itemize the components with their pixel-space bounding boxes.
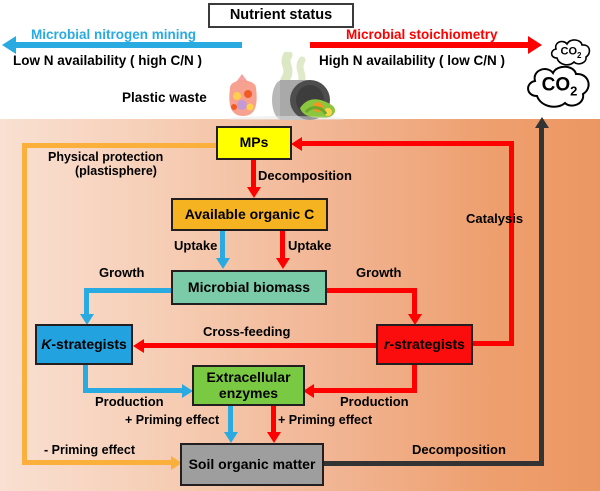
node-k-strategists[interactable]: K-strategists [35, 324, 133, 365]
node-microbial-biomass[interactable]: Microbial biomass [171, 270, 327, 305]
cross-feeding-edge [143, 343, 377, 348]
uptake-left-edge [220, 231, 225, 260]
priming-plus-right-label: + Priming effect [278, 413, 372, 427]
decomposition-bottom-label: Decomposition [412, 443, 506, 458]
catalysis-label: Catalysis [466, 212, 523, 227]
plastic-waste-illustration [222, 52, 350, 120]
mps-to-aoc-edge [251, 159, 256, 189]
priming-minus-label: - Priming effect [44, 443, 135, 457]
physical-protection-line1: Physical protection [48, 150, 163, 164]
priming-left-arrow-head-icon [224, 432, 238, 443]
production-right-edge-h [313, 388, 417, 393]
decomposition-edge-vertical [539, 127, 544, 464]
stoichiometry-arrow-head-icon [528, 36, 542, 54]
physical-protection-line2: (plastisphere) [75, 164, 157, 178]
physical-protection-edge-left [22, 143, 27, 465]
co2-large-text: CO2 [523, 75, 596, 99]
uptake-right-edge [280, 231, 285, 260]
enzymes-line1: Extracellular [206, 369, 290, 385]
catalysis-arrow-head-icon [291, 137, 302, 151]
catalysis-edge-from-r [471, 341, 514, 346]
production-left-label: Production [95, 395, 164, 410]
priming-right-arrow-head-icon [267, 432, 281, 443]
co2-cloud-large: CO2 [523, 62, 596, 112]
decomposition-arrow-head-icon [535, 117, 549, 128]
growth-left-edge-v [84, 288, 89, 316]
co2-small-text: CO2 [548, 45, 594, 59]
stoichiometry-arrow-shaft [310, 42, 529, 48]
production-right-label: Production [340, 395, 409, 410]
catalysis-edge-to-mps [300, 141, 512, 146]
growth-right-edge-v [412, 288, 417, 316]
microbial-nitrogen-mining-label: Microbial nitrogen mining [31, 27, 196, 42]
physical-protection-edge-bottom [22, 460, 174, 465]
production-left-edge-h [83, 388, 185, 393]
k-strategists-rest: -strategists [51, 336, 126, 352]
priming-plus-left-label: + Priming effect [125, 413, 219, 427]
physical-protection-edge-top [22, 143, 218, 148]
decomposition-edge-from-som [322, 461, 544, 466]
uptake-right-arrow-head-icon [276, 258, 290, 269]
node-extracellular-enzymes[interactable]: Extracellularenzymes [192, 365, 305, 406]
uptake-left-arrow-head-icon [216, 258, 230, 269]
decomposition-top-label: Decomposition [258, 169, 352, 184]
nitrogen-mining-arrow-shaft [14, 42, 242, 48]
microbial-stoichiometry-label: Microbial stoichiometry [346, 27, 498, 42]
priming-right-edge [271, 406, 276, 434]
mps-to-aoc-arrow-head-icon [247, 187, 261, 198]
figure-canvas: Nutrient status Microbial nitrogen minin… [0, 0, 600, 491]
nitrogen-mining-arrow-head-icon [2, 36, 16, 54]
node-soil-organic-matter[interactable]: Soil organic matter [180, 443, 324, 486]
growth-right-label: Growth [356, 266, 402, 281]
enzymes-line2: enzymes [219, 385, 278, 401]
cross-feeding-label: Cross-feeding [203, 325, 290, 340]
growth-left-edge-h [84, 288, 174, 293]
node-mps[interactable]: MPs [216, 126, 292, 160]
node-available-organic-c[interactable]: Available organic C [171, 198, 328, 231]
growth-left-label: Growth [99, 266, 145, 281]
low-n-availability-label: Low N availability ( high C/N ) [13, 53, 202, 68]
node-r-strategists[interactable]: r-strategists [376, 324, 473, 365]
priming-left-edge [228, 406, 233, 434]
r-strategists-rest: -strategists [389, 336, 464, 352]
catalysis-edge-vertical [509, 141, 514, 346]
physical-protection-label: Physical protection (plastisphere) [48, 150, 163, 178]
cross-feeding-arrow-head-icon [133, 339, 144, 353]
k-strategists-italic: K [41, 336, 51, 352]
uptake-right-label: Uptake [288, 239, 331, 254]
uptake-left-label: Uptake [174, 239, 217, 254]
growth-right-edge-h [324, 288, 417, 293]
nutrient-status-box: Nutrient status [208, 3, 354, 28]
plastic-waste-label: Plastic waste [122, 90, 207, 105]
